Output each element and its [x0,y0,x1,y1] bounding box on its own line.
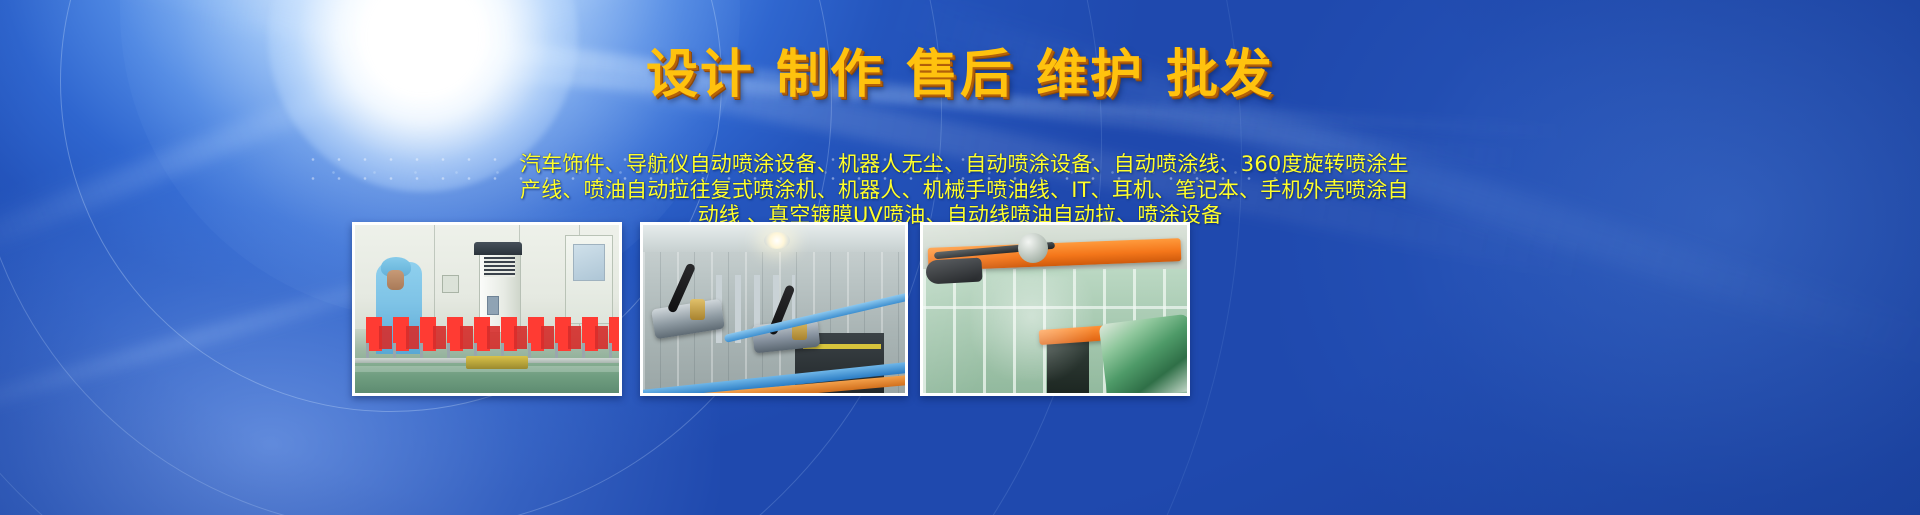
photo-gallery [0,222,1920,402]
photo-1-cabinet-panel [487,296,499,315]
headline-segment-design: 设计 [646,45,754,105]
photo-1-tooling [466,356,528,369]
headline-segment-after-sales: 售后 [906,45,1014,105]
photo-3-content [923,225,1187,393]
photo-1-content [355,225,619,393]
banner-headline: 设计制作售后维护批发 [0,46,1920,104]
photo-cleanroom-coating-line[interactable] [352,222,622,396]
photo-1-cabinet-top [474,242,522,255]
headline-segment-maintenance: 维护 [1036,45,1144,105]
photo-1-worker-face [387,270,404,290]
photo-3-sheen [923,225,1187,393]
banner-description: 汽车饰件、导航仪自动喷涂设备、机器人无尘、自动喷涂设备、自动喷涂线、360度旋转… [520,152,1400,229]
photo-1-control-box [442,275,459,293]
description-line-1: 汽车饰件、导航仪自动喷涂设备、机器人无尘、自动喷涂设备、自动喷涂线、360度旋转… [520,152,1400,178]
photo-2-ceiling-lamp [764,232,790,249]
promo-banner: 设计制作售后维护批发 汽车饰件、导航仪自动喷涂设备、机器人无尘、自动喷涂设备、自… [0,0,1920,515]
photo-1-cabinet-vent [484,257,515,277]
photo-robot-spray-booth[interactable] [920,222,1190,396]
photo-1-door [565,235,613,324]
headline-segment-wholesale: 批发 [1166,45,1274,105]
photo-2-content [643,225,905,393]
headline-segment-manufacture: 制作 [776,45,884,105]
photo-1-wall-seam-a [434,225,435,329]
photo-spray-gun-manifold[interactable] [640,222,908,396]
photo-2-brass-fitting-a [690,299,705,320]
description-line-2: 产线、喷油自动拉往复式喷涂机、机器人、机械手喷油线、IT、耳机、笔记本、手机外壳… [520,178,1400,204]
